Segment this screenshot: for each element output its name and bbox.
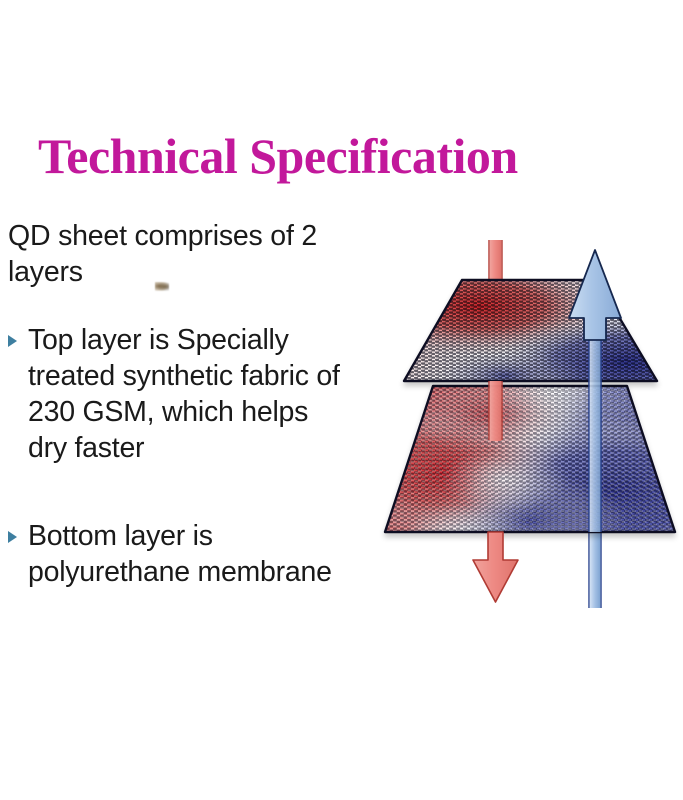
top-layer: [365, 275, 683, 389]
list-item: Top layer is Specially treated synthetic…: [8, 322, 360, 466]
triangle-bullet-icon: [8, 518, 28, 543]
bullet-2-text: Bottom layer is polyurethane membrane: [28, 518, 332, 590]
intro-line-1: QD sheet comprises of 2: [8, 218, 360, 254]
fabric-layers-diagram: [365, 240, 683, 620]
page-title: Technical Specification: [38, 130, 638, 183]
slide-canvas: Technical Specification QD sheet compris…: [0, 0, 683, 800]
bullet-1-text: Top layer is Specially treated synthetic…: [28, 322, 340, 466]
list-item: Bottom layer is polyurethane membrane: [8, 518, 360, 590]
bullet-1-line-3: 230 GSM, which helps: [28, 394, 340, 430]
bullet-2-line-1: Bottom layer is: [28, 518, 332, 554]
intro-line-2: layers: [8, 254, 360, 290]
triangle-bullet-icon: [8, 322, 28, 347]
bullet-1-line-1: Top layer is Specially: [28, 322, 340, 358]
bullet-2-line-2: polyurethane membrane: [28, 554, 332, 590]
bullet-1-line-2: treated synthetic fabric of: [28, 358, 340, 394]
bullet-1-line-4: dry faster: [28, 430, 340, 466]
bottom-layer: [365, 380, 683, 555]
text-column: QD sheet comprises of 2 layers Top layer…: [8, 218, 360, 590]
